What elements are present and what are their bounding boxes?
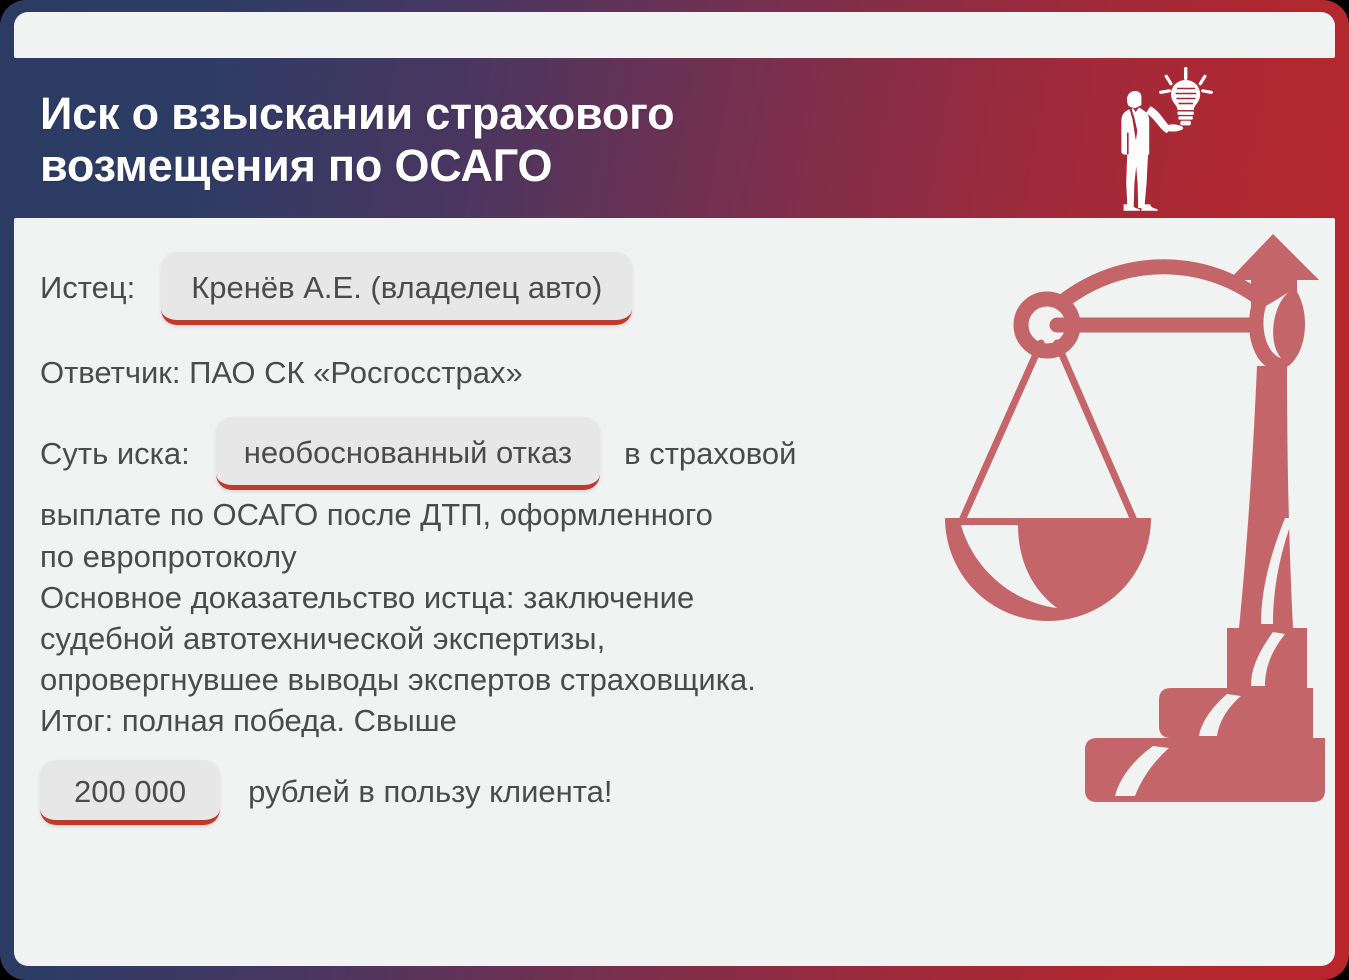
card-body: Истец: Кренёв А.Е. (владелец авто) Ответ…	[14, 218, 1335, 966]
result-row: 200 000 рублей в пользу клиента!	[40, 760, 1060, 825]
businessman-lightbulb-icon	[1107, 64, 1227, 214]
claim-tail: в страховой	[624, 434, 796, 474]
defendant-label: Ответчик: ПАО СК «Росгосстрах»	[40, 355, 523, 390]
result-tail: рублей в пользу клиента!	[248, 772, 612, 812]
result-lead: Итог: полная победа. Свыше	[40, 700, 1060, 741]
plaintiff-chip[interactable]: Кренёв А.Е. (владелец авто)	[161, 252, 632, 325]
claim-row: Суть иска: необоснованный отказ в страхо…	[40, 417, 1060, 490]
card-header: Иск о взыскании страхового возмещения по…	[14, 58, 1335, 218]
case-details: Истец: Кренёв А.Е. (владелец авто) Ответ…	[40, 252, 1060, 825]
plaintiff-label: Истец:	[40, 268, 135, 308]
plaintiff-row: Истец: Кренёв А.Е. (владелец авто)	[40, 252, 1060, 325]
claim-label: Суть иска:	[40, 434, 190, 474]
page-title: Иск о взыскании страхового возмещения по…	[40, 88, 860, 192]
evidence-paragraph: Основное доказательство истца: заключени…	[40, 577, 1060, 701]
slide-screen: Иск о взыскании страхового возмещения по…	[0, 0, 1349, 980]
defendant-row: Ответчик: ПАО СК «Росгосстрах»	[40, 353, 1060, 393]
claim-chip[interactable]: необоснованный отказ	[216, 417, 600, 490]
claim-continuation: выплате по ОСАГО после ДТП, оформленного…	[40, 494, 1060, 576]
top-strip	[14, 12, 1335, 58]
amount-chip[interactable]: 200 000	[40, 760, 220, 825]
